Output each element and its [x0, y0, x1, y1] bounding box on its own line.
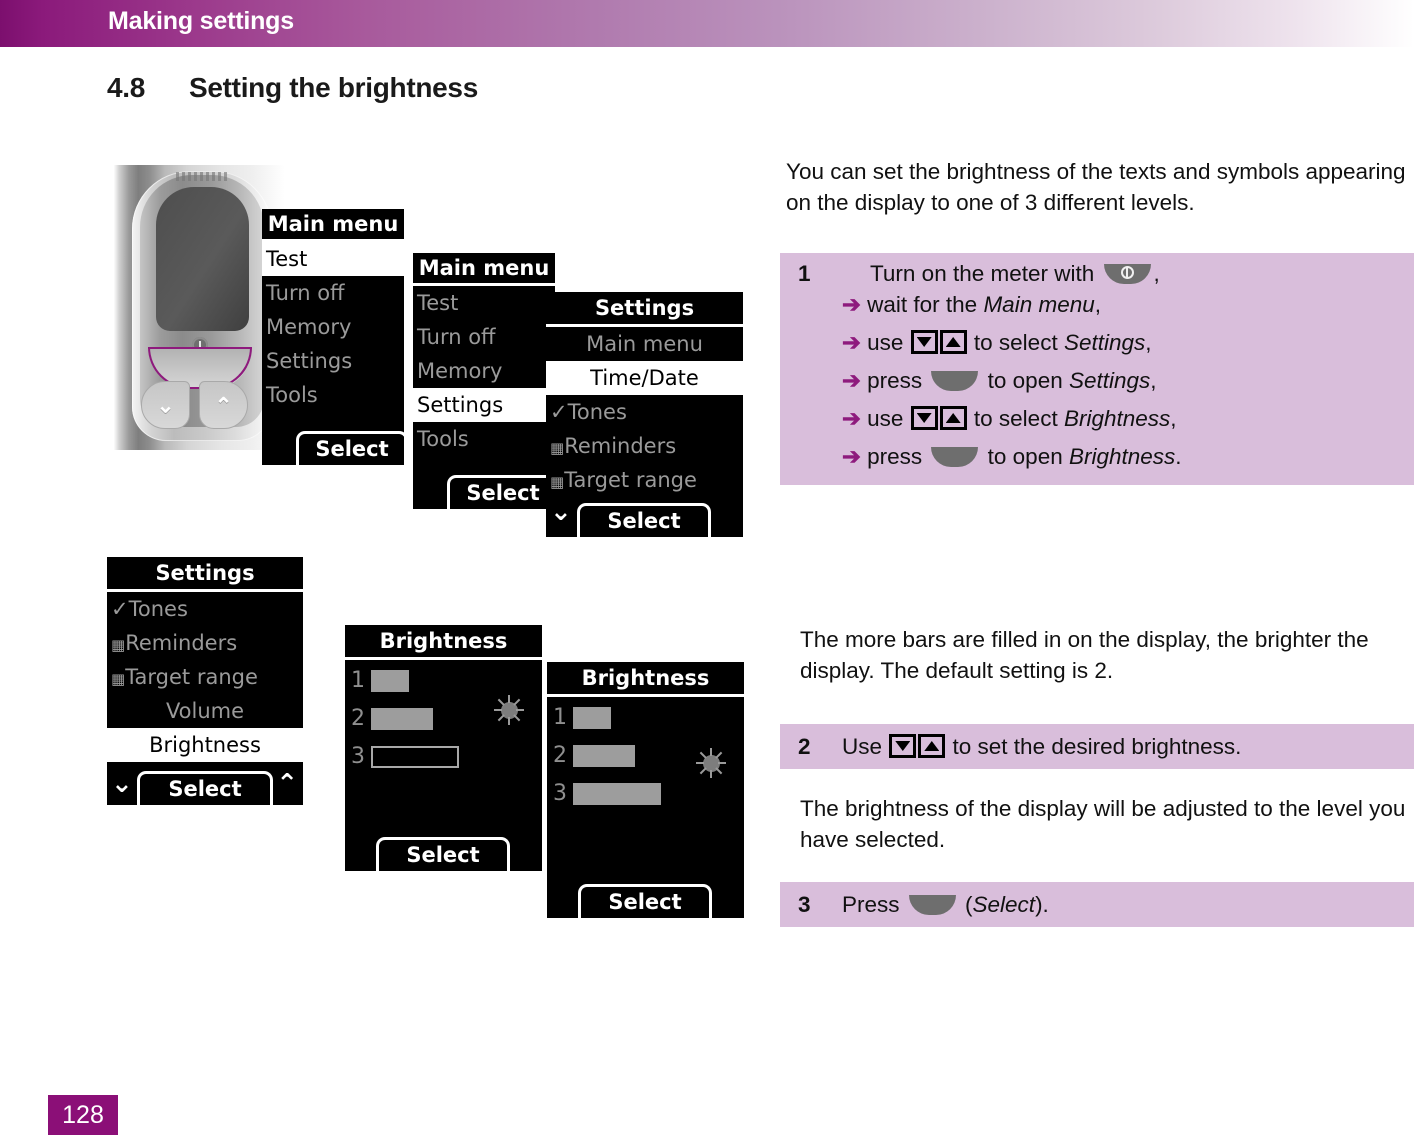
- screen-title: Main menu: [262, 209, 404, 242]
- bullet-mid: to open: [981, 368, 1069, 393]
- section-number: 4.8: [107, 72, 189, 104]
- step-3-line: Press (Select).: [842, 889, 1049, 920]
- screen-title: Settings: [107, 557, 303, 592]
- step-2-text: Use: [842, 734, 888, 759]
- menu-item-test[interactable]: Test: [413, 286, 555, 320]
- bullet-tail: ,: [1095, 292, 1101, 317]
- menu-item-tones[interactable]: ✓Tones: [546, 395, 743, 429]
- menu-item-main-menu[interactable]: Main menu: [546, 327, 743, 361]
- menu-item-memory[interactable]: Memory: [262, 310, 404, 344]
- level-bar: [371, 746, 459, 768]
- step-3-text: Press: [842, 892, 906, 917]
- page-number: 128: [48, 1095, 118, 1135]
- menu-item-tools[interactable]: Tools: [262, 378, 404, 412]
- level-number: 1: [351, 667, 365, 695]
- bullet-text: press: [867, 368, 928, 393]
- power-button-icon: [1104, 264, 1151, 284]
- brightness-sun-icon: [496, 697, 522, 723]
- bullet-emphasis: Settings: [1064, 330, 1145, 355]
- menu-item-label: Tones: [129, 597, 188, 621]
- screen-main-menu-1: Main menu Test Turn off Memory Settings …: [262, 209, 404, 465]
- bullet-tail: ,: [1170, 406, 1176, 431]
- step-3-mid: (: [959, 892, 973, 917]
- section-heading: Setting the brightness: [189, 72, 478, 103]
- menu-item-reminders[interactable]: ▦Reminders: [546, 429, 743, 463]
- softkey-select[interactable]: Select: [578, 884, 712, 918]
- brightness-sun-icon: [698, 750, 724, 776]
- screen-title: Brightness: [345, 625, 542, 660]
- arrow-icon: ➔: [842, 406, 861, 431]
- softkey-select[interactable]: Select: [296, 431, 404, 465]
- step-1-bullet-2: ➔ use to select Settings,: [842, 327, 1152, 358]
- checkmark-icon: ✓: [111, 597, 129, 621]
- step-1-number: 1: [798, 258, 811, 289]
- screen-settings-2: Settings ✓Tones ▦Reminders ▦Target range…: [107, 557, 303, 805]
- bullet-mid: to select: [968, 330, 1064, 355]
- menu-item-turn-off[interactable]: Turn off: [262, 276, 404, 310]
- chevron-up-icon: ⌃: [215, 393, 233, 418]
- up-key-icon: [918, 734, 945, 758]
- menu-item-label: Reminders: [564, 434, 676, 458]
- up-key-icon: [940, 406, 967, 430]
- down-key-icon: [889, 734, 916, 758]
- main-button-icon: [931, 447, 978, 467]
- arrow-icon: ➔: [842, 368, 861, 393]
- scroll-down-icon[interactable]: ⌄: [550, 499, 572, 525]
- menu-item-label: Tones: [568, 400, 627, 424]
- menu-item-settings[interactable]: Settings: [262, 344, 404, 378]
- note-paragraph-2: The brightness of the display will be ad…: [800, 793, 1414, 855]
- menu-item-tools[interactable]: Tools: [413, 422, 555, 456]
- step-1-bullet-1: ➔ wait for the Main menu,: [842, 289, 1101, 320]
- screen-title: Settings: [546, 292, 743, 327]
- menu-item-brightness[interactable]: Brightness: [107, 728, 303, 762]
- bullet-emphasis: Settings: [1069, 368, 1150, 393]
- brightness-level-3[interactable]: 3: [351, 743, 531, 771]
- level-number: 2: [553, 742, 567, 770]
- meter-display: [156, 187, 249, 331]
- brightness-level-1[interactable]: 1: [351, 667, 531, 695]
- screen-title: Main menu: [413, 253, 555, 286]
- level-bar: [573, 707, 611, 729]
- brightness-level-1[interactable]: 1: [553, 704, 733, 732]
- step-2-line: Use to set the desired brightness.: [842, 731, 1241, 762]
- step-2-number: 2: [798, 731, 811, 762]
- menu-item-settings[interactable]: Settings: [413, 388, 555, 422]
- bullet-text: wait for the: [867, 292, 983, 317]
- softkey-select[interactable]: Select: [577, 503, 711, 537]
- softkey-select[interactable]: Select: [137, 771, 273, 805]
- menu-item-label: Reminders: [125, 631, 237, 655]
- arrow-icon: ➔: [842, 444, 861, 469]
- step-1-bullet-5: ➔ press to open Brightness.: [842, 441, 1182, 472]
- running-header: Making settings: [0, 0, 1414, 47]
- menu-item-tones[interactable]: ✓Tones: [107, 592, 303, 626]
- menu-item-reminders[interactable]: ▦Reminders: [107, 626, 303, 660]
- bullet-tail: .: [1175, 444, 1181, 469]
- intro-paragraph: You can set the brightness of the texts …: [786, 156, 1414, 218]
- scroll-down-icon[interactable]: ⌄: [111, 771, 133, 797]
- meter-down-button[interactable]: ⌄: [141, 381, 190, 429]
- down-key-icon: [911, 406, 938, 430]
- grid-icon: ▦: [111, 636, 125, 654]
- menu-item-label: Target range: [564, 468, 697, 492]
- softkey-select[interactable]: Select: [376, 837, 510, 871]
- bullet-mid: to open: [981, 444, 1069, 469]
- bullet-emphasis: Main menu: [983, 292, 1094, 317]
- level-number: 2: [351, 705, 365, 733]
- menu-item-label: Target range: [125, 665, 258, 689]
- scroll-up-icon[interactable]: ⌃: [276, 771, 298, 797]
- grid-icon: ▦: [550, 473, 564, 491]
- brightness-level-3[interactable]: 3: [553, 780, 733, 808]
- bullet-tail: ,: [1150, 368, 1156, 393]
- grid-icon: ▦: [550, 439, 564, 457]
- menu-item-volume[interactable]: Volume: [107, 694, 303, 728]
- step-1-bullet-3: ➔ press to open Settings,: [842, 365, 1157, 396]
- meter-logo: [176, 172, 230, 181]
- bullet-tail: ,: [1145, 330, 1151, 355]
- menu-item-target-range[interactable]: ▦Target range: [546, 463, 743, 497]
- menu-item-turn-off[interactable]: Turn off: [413, 320, 555, 354]
- note-paragraph-1: The more bars are filled in on the displ…: [800, 624, 1414, 686]
- bullet-text: use: [867, 330, 910, 355]
- level-bar: [573, 783, 661, 805]
- step-1-line-1: Turn on the meter with ,: [870, 258, 1160, 289]
- menu-item-test[interactable]: Test: [262, 242, 404, 276]
- level-bar: [371, 708, 433, 730]
- step-2-tail: to set the desired brightness.: [946, 734, 1241, 759]
- softkey-select[interactable]: Select: [447, 475, 555, 509]
- menu-item-time-date[interactable]: Time/Date: [546, 361, 743, 395]
- step-1-comma: ,: [1154, 261, 1160, 286]
- bullet-emphasis: Brightness: [1069, 444, 1175, 469]
- level-number: 3: [553, 780, 567, 808]
- meter-up-button[interactable]: ⌃: [199, 381, 248, 429]
- screen-main-menu-2: Main menu Test Turn off Memory Settings …: [413, 253, 555, 509]
- step-3-emphasis: Select: [973, 892, 1036, 917]
- menu-item-memory[interactable]: Memory: [413, 354, 555, 388]
- level-bar: [371, 670, 409, 692]
- running-header-title: Making settings: [108, 7, 294, 36]
- arrow-icon: ➔: [842, 292, 861, 317]
- arrow-icon: ➔: [842, 330, 861, 355]
- screen-title: Brightness: [547, 662, 744, 697]
- screen-brightness-2: Brightness 1 2 3 Select: [547, 662, 744, 918]
- menu-item-target-range[interactable]: ▦Target range: [107, 660, 303, 694]
- screen-settings-1: Settings Main menu Time/Date ✓Tones ▦Rem…: [546, 292, 743, 537]
- up-key-icon: [940, 330, 967, 354]
- step-1-band: 1 Turn on the meter with , ➔ wait for th…: [780, 253, 1414, 485]
- bullet-text: press: [867, 444, 928, 469]
- step-3-tail: ).: [1035, 892, 1049, 917]
- main-button-icon: [909, 895, 956, 915]
- level-number: 1: [553, 704, 567, 732]
- level-number: 3: [351, 743, 365, 771]
- chevron-down-icon: ⌄: [157, 393, 175, 418]
- down-key-icon: [911, 330, 938, 354]
- checkmark-icon: ✓: [550, 400, 568, 424]
- bullet-mid: to select: [968, 406, 1064, 431]
- bullet-text: use: [867, 406, 910, 431]
- step-2-band: 2 Use to set the desired brightness.: [780, 724, 1414, 769]
- step-1-text: Turn on the meter with: [870, 261, 1094, 286]
- level-bar: [573, 745, 635, 767]
- page-title: 4.8Setting the brightness: [107, 72, 478, 104]
- bullet-emphasis: Brightness: [1064, 406, 1170, 431]
- main-button-icon: [931, 371, 978, 391]
- step-3-number: 3: [798, 889, 811, 920]
- screen-brightness-1: Brightness 1 2 3 Select: [345, 625, 542, 871]
- step-3-band: 3 Press (Select).: [780, 882, 1414, 927]
- grid-icon: ▦: [111, 670, 125, 688]
- step-1-bullet-4: ➔ use to select Brightness,: [842, 403, 1177, 434]
